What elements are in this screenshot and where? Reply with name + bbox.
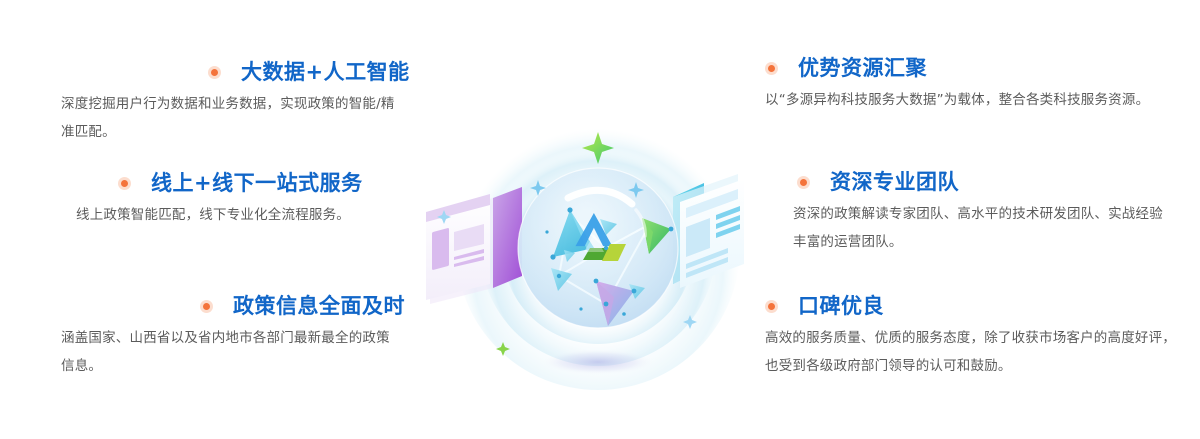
right-feature-column: 优势资源汇聚 以“多源异构科技服务大数据”为载体，整合各类科技服务资源。 资深专… xyxy=(755,0,1200,439)
dot-bullet-icon xyxy=(765,62,778,75)
feature-item-bigdata-ai: 大数据+人工智能 深度挖掘用户行为数据和业务数据，实现政策的智能/精准匹配。 xyxy=(0,62,445,146)
feature-heading: 大数据+人工智能 xyxy=(0,62,445,83)
feature-description: 线上政策智能匹配，线下专业化全流程服务。 xyxy=(0,202,400,230)
glass-sphere xyxy=(518,168,678,328)
feature-description: 以“多源异构科技服务大数据”为载体，整合各类科技服务资源。 xyxy=(755,87,1195,115)
dot-bullet-icon xyxy=(200,300,213,313)
dot-bullet-icon xyxy=(797,176,810,189)
dot-bullet-icon xyxy=(208,66,221,79)
feature-heading: 线上+线下一站式服务 xyxy=(0,173,445,194)
feature-item-team: 资深专业团队 资深的政策解读专家团队、高水平的技术研发团队、实战经验丰富的运营团… xyxy=(755,172,1200,256)
feature-item-online-offline: 线上+线下一站式服务 线上政策智能匹配，线下专业化全流程服务。 xyxy=(0,173,445,230)
feature-title: 大数据+人工智能 xyxy=(241,62,410,83)
feature-title: 政策信息全面及时 xyxy=(233,296,405,317)
feature-heading: 口碑优良 xyxy=(755,296,1200,317)
dot-bullet-icon xyxy=(765,300,778,313)
feature-heading: 政策信息全面及时 xyxy=(0,296,445,317)
feature-heading: 优势资源汇聚 xyxy=(755,58,1200,79)
feature-item-reputation: 口碑优良 高效的服务质量、优质的服务态度，除了收获市场客户的高度好评，也受到各级… xyxy=(755,296,1200,380)
sphere-shadow xyxy=(540,349,656,375)
feature-description: 涵盖国家、山西省以及省内地市各部门最新最全的政策信息。 xyxy=(0,325,400,380)
feature-description: 深度挖掘用户行为数据和业务数据，实现政策的智能/精准匹配。 xyxy=(0,91,400,146)
feature-title: 优势资源汇聚 xyxy=(798,58,927,79)
feature-description: 高效的服务质量、优质的服务态度，除了收获市场客户的高度好评，也受到各级政府部门领… xyxy=(755,325,1180,380)
data-sphere-illustration xyxy=(418,52,768,392)
left-feature-column: 大数据+人工智能 深度挖掘用户行为数据和业务数据，实现政策的智能/精准匹配。 线… xyxy=(0,0,445,439)
dot-bullet-icon xyxy=(118,177,131,190)
feature-title: 线上+线下一站式服务 xyxy=(151,173,363,194)
feature-title: 资深专业团队 xyxy=(830,172,959,193)
feature-description: 资深的政策解读专家团队、高水平的技术研发团队、实战经验丰富的运营团队。 xyxy=(755,201,1165,256)
feature-item-resources: 优势资源汇聚 以“多源异构科技服务大数据”为载体，整合各类科技服务资源。 xyxy=(755,58,1200,115)
feature-item-policy-info: 政策信息全面及时 涵盖国家、山西省以及省内地市各部门最新最全的政策信息。 xyxy=(0,296,445,380)
feature-highlights-section: 大数据+人工智能 深度挖掘用户行为数据和业务数据，实现政策的智能/精准匹配。 线… xyxy=(0,0,1200,439)
feature-title: 口碑优良 xyxy=(798,296,884,317)
feature-heading: 资深专业团队 xyxy=(755,172,1200,193)
